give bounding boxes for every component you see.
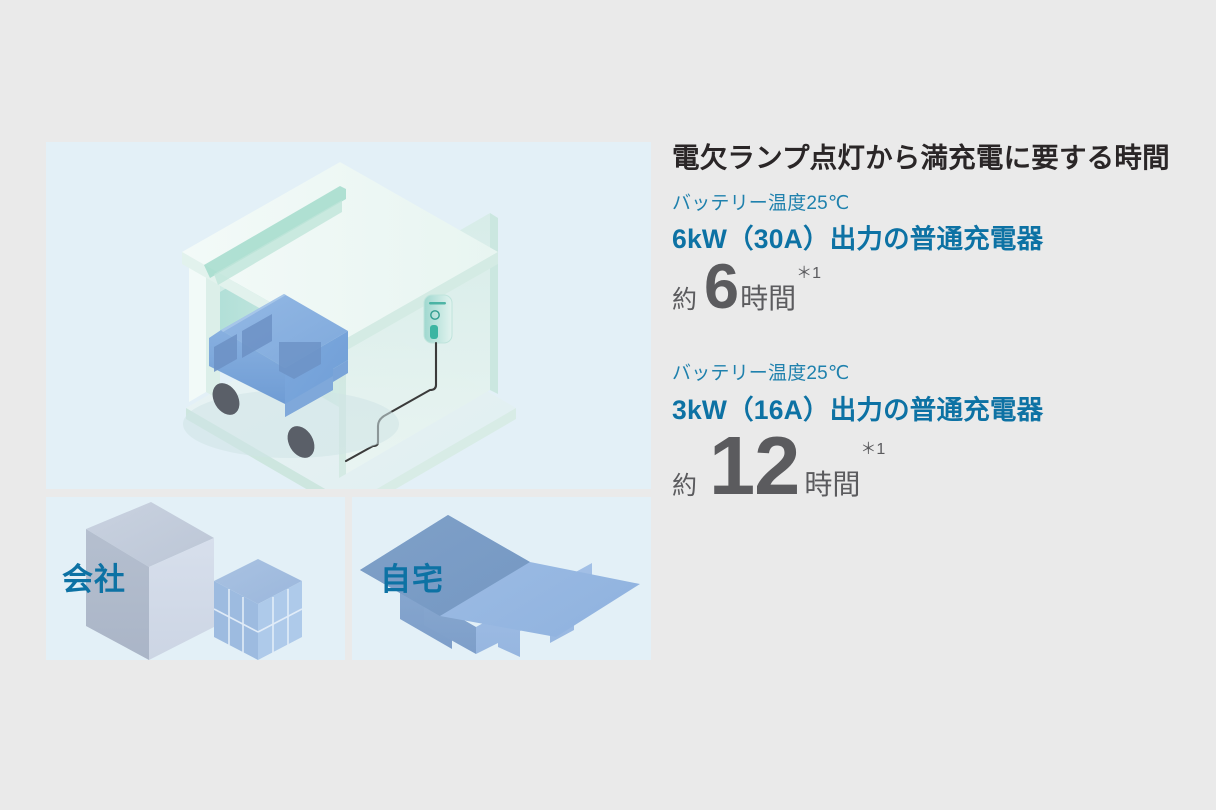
hours-unit-1: 時間	[740, 285, 796, 313]
page-title: 電欠ランプ点灯から満充電に要する時間	[672, 142, 1192, 174]
charging-time-info: 電欠ランプ点灯から満充電に要する時間 バッテリー温度25℃ 6kW（30A）出力…	[672, 142, 1192, 501]
wall-charger-unit	[424, 295, 452, 343]
charging-hours-value-1: 6	[704, 262, 738, 314]
charging-time-result-2: 約 12 時間 ＊1	[672, 432, 1192, 500]
infographic-canvas: 会社	[0, 0, 1216, 810]
garage-charging-scene-illustration	[46, 142, 651, 489]
charging-block-3kw: バッテリー温度25℃ 3kW（16A）出力の普通充電器 約 12 時間 ＊1	[672, 363, 1192, 501]
approx-prefix-2: 約	[672, 474, 697, 499]
home-panel-label: 自宅	[380, 564, 444, 595]
charging-block-6kw: バッテリー温度25℃ 6kW（30A）出力の普通充電器 約 6 時間 ＊1	[672, 193, 1192, 314]
office-panel-label: 会社	[62, 564, 126, 595]
charger-spec-1: 6kW（30A）出力の普通充電器	[672, 224, 1192, 256]
hours-unit-2: 時間	[804, 471, 860, 499]
charging-hours-value-2: 12	[709, 432, 799, 500]
garage-scene-panel	[46, 142, 651, 489]
footnote-marker-1: ＊1	[796, 266, 821, 282]
charging-time-result-1: 約 6 時間 ＊1	[672, 262, 1192, 314]
approx-prefix-1: 約	[672, 288, 697, 313]
battery-temp-condition-1: バッテリー温度25℃	[672, 193, 1192, 216]
footnote-marker-2: ＊1	[860, 442, 885, 458]
battery-temp-condition-2: バッテリー温度25℃	[672, 363, 1192, 386]
office-annex	[214, 559, 302, 660]
